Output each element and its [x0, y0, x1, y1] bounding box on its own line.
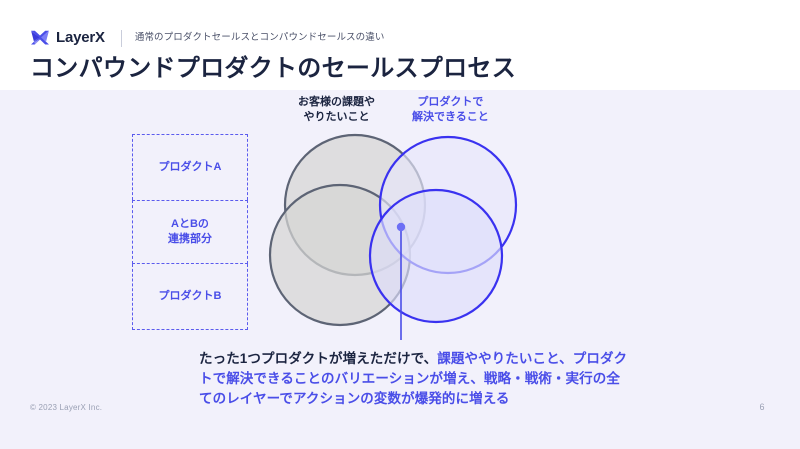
venn-circle-blue-bottom [370, 190, 502, 322]
legend-integration-line1: AとBの [171, 218, 209, 230]
brand-lockup: LayerX 通常のプロダクトセールスとコンパウンドセールスの違い [30, 27, 384, 49]
caption-text: たった1つプロダクトが増えただけで、課題ややりたいこと、プロダクトで解決できるこ… [199, 349, 629, 409]
legend-integration-line2: 連携部分 [168, 233, 212, 245]
legend-item-integration-label: AとBの 連携部分 [168, 217, 212, 247]
legend-item-product-b-label: プロダクトB [159, 289, 222, 304]
header-subtitle: 通常のプロダクトセールスとコンパウンドセールスの違い [135, 29, 385, 47]
legend-item-integration: AとBの 連携部分 [132, 200, 248, 264]
page-number: 6 [752, 402, 772, 412]
venn-label-customer-issues: お客様の課題や やりたいこと [298, 95, 375, 125]
caption-lead: たった1つプロダクトが増えただけで、 [199, 351, 437, 366]
legend-item-product-b: プロダクトB [132, 264, 248, 330]
brand-divider [121, 30, 122, 47]
venn-intersection-dot [397, 223, 405, 231]
venn-label-right-line1: プロダクトで [412, 95, 489, 110]
legend-item-product-a: プロダクトA [132, 134, 248, 200]
layerx-butterfly-logo-icon [30, 29, 50, 47]
venn-label-left-line1: お客様の課題や [298, 95, 375, 110]
venn-diagram [250, 125, 550, 350]
legend-group: プロダクトA AとBの 連携部分 プロダクトB [132, 134, 248, 330]
venn-label-right-line2: 解決できること [412, 110, 489, 125]
brand-name: LayerX [56, 29, 105, 47]
page-title: コンパウンドプロダクトのセールスプロセス [30, 53, 516, 85]
slide-canvas: LayerX 通常のプロダクトセールスとコンパウンドセールスの違い コンパウンド… [0, 0, 800, 449]
copyright-text: © 2023 LayerX Inc. [30, 403, 102, 412]
venn-label-product-solutions: プロダクトで 解決できること [412, 95, 489, 125]
legend-item-product-a-label: プロダクトA [159, 160, 222, 175]
venn-label-left-line2: やりたいこと [298, 110, 375, 125]
